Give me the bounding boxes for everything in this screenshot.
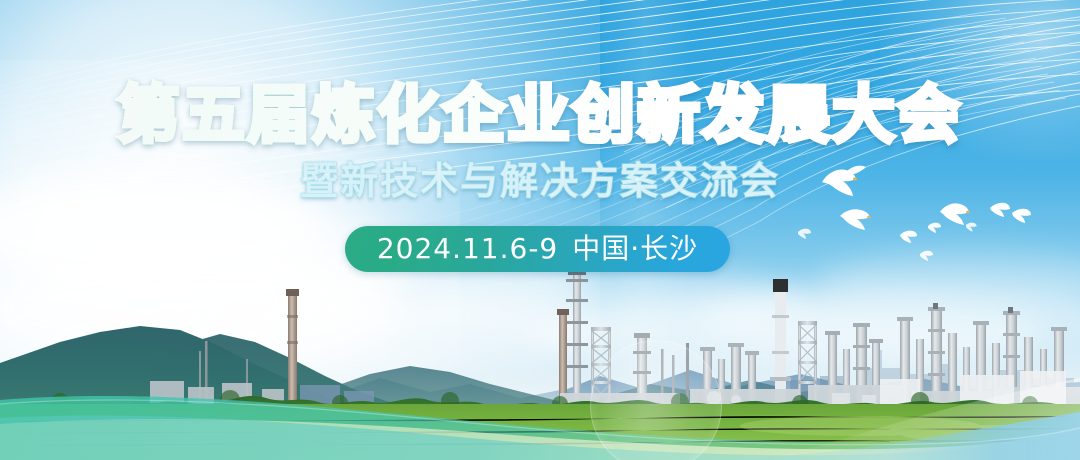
wave-band-decoration: [0, 360, 1080, 460]
page-title: 第五届炼化企业创新发展大会: [117, 80, 962, 150]
date-location-badge: 2024.11.6-9 中国·长沙: [345, 226, 730, 272]
event-date: 2024.11.6-9: [377, 234, 558, 264]
page-subtitle: 暨新技术与解决方案交流会: [300, 158, 780, 204]
main-title-container: 第五届炼化企业创新发展大会: [0, 80, 1080, 150]
lens-flare-circle: [590, 340, 722, 460]
event-location: 中国·长沙: [572, 234, 698, 264]
conference-banner: 第五届炼化企业创新发展大会 暨新技术与解决方案交流会 2024.11.6-9 中…: [0, 0, 1080, 460]
subtitle-container: 暨新技术与解决方案交流会: [0, 158, 1080, 204]
